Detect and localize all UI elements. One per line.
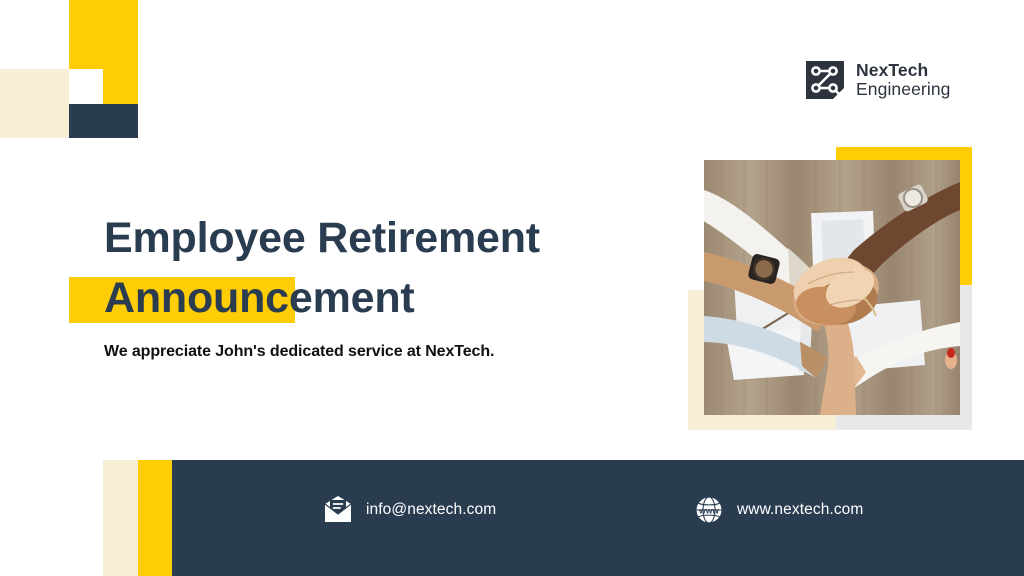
- brand-logo: NexTech Engineering: [803, 58, 951, 102]
- slide-canvas: NexTech Engineering Employee Retirement …: [0, 0, 1024, 576]
- footer-bar: [172, 460, 1024, 576]
- page-subtitle: We appreciate John's dedicated service a…: [104, 343, 664, 361]
- contact-website[interactable]: www www.nextech.com: [694, 495, 863, 525]
- brand-logo-text: NexTech Engineering: [856, 61, 951, 99]
- footer-stripe-yellow: [138, 460, 172, 576]
- decor-block-yellow-top: [69, 0, 138, 69]
- contact-website-text: www.nextech.com: [737, 501, 863, 519]
- team-hands-photo: [704, 160, 960, 415]
- page-title: Employee Retirement Announcement: [104, 208, 634, 328]
- contact-email-text: info@nextech.com: [366, 501, 496, 519]
- footer-stripe-cream: [103, 460, 138, 576]
- svg-text:www: www: [698, 506, 719, 516]
- envelope-icon: [323, 495, 353, 525]
- nextech-circuit-mark-icon: [803, 58, 847, 102]
- brand-name-primary: NexTech: [856, 61, 951, 80]
- decor-block-navy-top: [69, 104, 138, 138]
- globe-icon: www: [694, 495, 724, 525]
- brand-name-secondary: Engineering: [856, 80, 951, 99]
- decor-block-yellow-small: [103, 69, 138, 104]
- contact-email[interactable]: info@nextech.com: [323, 495, 496, 525]
